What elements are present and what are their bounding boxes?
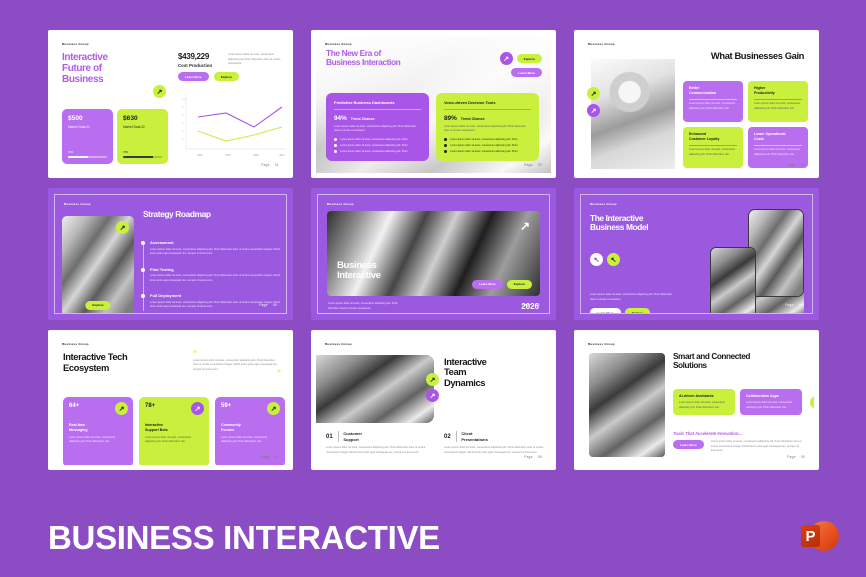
card-description: Lorem ipsum dolor sit amet, consectetur … [754,102,802,111]
item-description: Lorem ipsum dolor sit amet, consectetur … [326,446,430,455]
page-title: The New Era of Business Interaction [326,49,400,68]
list-item: Lorem ipsum dolor sit amet, consectetur … [444,138,531,142]
meeting-photo: ↗ Explore [62,216,134,314]
card-heading: Higher Productivity [754,86,802,95]
quote-mark-icon: ” [277,371,281,377]
list-item: Lorem ipsum dolor sit amet, consectetur … [334,150,421,154]
explore-button[interactable]: Explore [85,301,110,310]
phone-mockup-small [710,247,756,314]
slide-5[interactable]: Business Group ↗ Business Interactive Le… [311,188,556,320]
feature-card-voice-tools[interactable]: Voice-driven Decision Tools 89% Trend Ch… [436,93,539,161]
slide-9[interactable]: Business Group Smart and Connected Solut… [574,330,819,470]
step-description: Lorem ipsum dolor sit amet, consectetur … [150,248,287,257]
benefit-card-higher-productivity[interactable]: Higher Productivity Lorem ipsum dolor si… [748,81,808,122]
benefit-card-better-communication[interactable]: Better Communication Lorem ipsum dolor s… [683,81,743,122]
slide-logo: Business Group [64,202,91,206]
page-indicator: Page07 [261,455,279,459]
list-item: Lorem ipsum dolor sit amet, consectetur … [334,144,421,148]
phone-mockup-large [748,209,804,297]
slide-logo: Business Group [590,202,617,206]
list-item: Lorem ipsum dolor sit amet, consectetur … [444,144,531,148]
explore-button[interactable]: Explore [625,308,650,314]
slide-logo: Business Group [327,202,354,206]
page-title: The Interactive Business Model [590,214,648,233]
quote-block: “ Lorem ipsum dolor sit amet, consectetu… [193,351,281,372]
card-description: Lorem ipsum dolor sit amet, consectetur … [689,148,737,157]
learn-more-button[interactable]: Learn More [673,440,704,449]
amount-label: Cost Production [178,63,212,68]
item-label: Client Presentations [461,431,487,441]
card-heading: Collaboration Apps [746,394,796,398]
slide-logo: Business Group [588,42,615,46]
step-heading: Full Deployment [150,293,287,298]
learn-more-button[interactable]: Learn More [511,68,542,77]
arrow-up-right-icon: ↗ [116,221,129,234]
powerpoint-icon: P [801,519,839,555]
divider [338,431,339,442]
page-indicator: Page01 [261,163,279,167]
bullet-dot [444,150,447,153]
card-description: Lorem ipsum dolor sit amet, consectetur … [679,401,729,410]
card-description: Lorem ipsum dolor sit amet, consectetur … [754,148,802,157]
arrow-up-right-icon: ↗ [267,402,280,415]
numbered-item-customer-support[interactable]: 01 Customer Support Lorem ipsum dolor si… [326,431,430,465]
page-title: Strategy Roadmap [143,210,211,219]
progress-percent: 78% [123,151,162,154]
bullet-dot [334,138,337,141]
slide-logo: Business Group [325,42,352,46]
svg-text:2025: 2025 [225,154,231,157]
slide-6[interactable]: Business Group The Interactive Business … [574,188,819,320]
arrow-up-right-icon: ↗ [500,52,513,65]
card-description: Lorem ipsum dolor sit amet, consectetur … [746,401,796,410]
step-heading: Assessment [150,240,287,245]
solution-card-collaboration-apps[interactable]: Collaboration Apps Lorem ipsum dolor sit… [740,389,802,415]
card-heading: Predictive Business Dashboards [334,100,421,105]
tagline: Tools That Accelerate Innovation... [673,431,742,436]
list-item: Lorem ipsum dolor sit amet, consectetur … [334,138,421,142]
divider [334,109,421,110]
bullet-dot [444,144,447,147]
office-photo [589,353,665,457]
page-title: What Businesses Gain [711,51,804,62]
page-indicator: Page02 [524,163,542,167]
bullet-text: Lorem ipsum dolor sit amet, consectetur … [340,150,408,153]
svg-text:2024: 2024 [197,154,203,157]
footer-description: Lorem ipsum dolor sit amet, consectetur … [590,293,674,302]
svg-text:30: 30 [182,131,185,133]
numbered-item-client-presentations[interactable]: 02 Client Presentations Lorem ipsum dolo… [444,431,548,465]
card-description: Lorem ipsum dolor sit amet, consectetur … [221,436,279,445]
slide-logo: Business Group [588,342,615,346]
page-title: Interactive Team Dynamics [444,357,487,388]
card-heading: Better Communication [689,86,737,95]
item-description: Lorem ipsum dolor sit amet, consectetur … [444,446,548,455]
arrow-up-right-icon: ↗ [426,389,439,402]
workspace-photo [316,355,434,423]
slide-logo: Business Group [62,42,89,46]
slide-4[interactable]: Business Group Strategy Roadmap ↗ Explor… [48,188,293,320]
card-heading: Real-time Messaging [69,423,127,433]
slide-logo: Business Group [62,342,89,346]
stat-card-list: 64+ ↗ Real-time Messaging Lorem ipsum do… [63,397,285,465]
svg-text:50: 50 [182,123,185,125]
line-chart: 1008060 503010 20242025 20262027 [176,87,288,163]
feature-card-predictive-dashboards[interactable]: Predictive Business Dashboards 94% Trend… [326,93,429,161]
footer-description: Lorem ipsum dolor sit amet, consectetur … [711,440,803,454]
footer-description: Lorem ipsum dolor sit amet, consectetur … [328,302,402,311]
percent-label: Trend Chance [351,117,375,121]
bullet-dot [334,150,337,153]
card-description: Lorem ipsum dolor sit amet, consectetur … [69,436,127,445]
bullet-text: Lorem ipsum dolor sit amet, consectetur … [450,144,518,147]
slide-logo: Business Group [325,342,352,346]
page-title: Smart and Connected Solutions [673,352,750,371]
card-heading: Community Forums [221,423,279,433]
quote-text: Lorem ipsum dolor sit amet, consectetur … [193,359,281,373]
progress-bar [68,156,107,158]
item-number: 01 [326,434,333,440]
stat-card-support-bots[interactable]: 78+ ↗ Interactive Support Bots Lorem ips… [139,397,209,465]
card-heading: Voice-driven Decision Tools [444,100,531,105]
page-title: Interactive Tech Ecosystem [63,352,127,373]
footer-title: BUSINESS INTERACTIVE [48,519,440,557]
svg-text:2026: 2026 [253,154,259,157]
solution-card-ai-assistants[interactable]: AI-driven Assistants Lorem ipsum dolor s… [673,389,735,415]
percent-value: 94% [334,115,347,122]
list-item: Lorem ipsum dolor sit amet, consectetur … [444,150,531,154]
quote-mark-icon: “ [193,351,281,357]
arrow-up-right-icon: ↗ [520,219,530,233]
person-photo [591,59,675,169]
divider [444,109,531,110]
page-title: Business Interactive [337,261,381,282]
bullet-text: Lorem ipsum dolor sit amet, consectetur … [450,150,518,153]
arrow-up-right-icon: ↗ [191,402,204,415]
arrow-up-left-icon: ↖ [590,253,603,266]
card-heading: Lower Operational Costs [754,132,802,141]
benefit-card-enhanced-loyalty[interactable]: Enhanced Customer Loyalty Lorem ipsum do… [683,127,743,168]
card-description: Lorem ipsum dolor sit amet, consectetur … [334,125,421,134]
divider [456,431,457,442]
bullet-list: Lorem ipsum dolor sit amet, consectetur … [444,138,531,154]
stat-card-messaging[interactable]: 64+ ↗ Real-time Messaging Lorem ipsum do… [63,397,133,465]
step-description: Lorem ipsum dolor sit amet, consectetur … [150,274,287,283]
svg-text:2027: 2027 [279,154,285,157]
bullet-list: Lorem ipsum dolor sit amet, consectetur … [334,138,421,154]
bullet-text: Lorem ipsum dolor sit amet, consectetur … [340,138,408,141]
svg-text:60: 60 [182,115,185,117]
solution-card-list: AI-driven Assistants Lorem ipsum dolor s… [673,389,814,415]
item-number: 02 [444,434,451,440]
roadmap-steps: Assessment Lorem ipsum dolor sit amet, c… [141,240,287,310]
divider [689,99,737,100]
bullet-text: Lorem ipsum dolor sit amet, consectetur … [450,138,518,141]
slide-7[interactable]: Business Group Interactive Tech Ecosyste… [48,330,293,470]
page-indicator: Page03 [787,163,805,167]
bullet-dot [334,144,337,147]
page-indicator: Page04 [259,303,277,307]
amount-value: $439,229 [178,52,209,61]
page-indicator: Page05 [522,303,540,307]
numbered-item-list: 01 Customer Support Lorem ipsum dolor si… [326,431,548,465]
explore-button[interactable]: Explore [517,54,542,63]
arrow-up-left-icon: ↖ [607,253,620,266]
stat-label: Market Data 01 [68,125,107,130]
divider [754,145,802,146]
card-heading: Interactive Support Bots [145,423,203,433]
page-title: Interactive Future of Business [62,52,108,86]
progress-bar [123,156,162,158]
step-heading: Pilot Testing [150,267,287,272]
learn-more-button[interactable]: Learn More [472,280,503,289]
arrow-up-right-icon: ↗ [587,87,600,100]
stat-card-market-02[interactable]: $630 Market Data 02 78% [117,109,168,164]
page-indicator: Page08 [524,455,542,459]
slide-1[interactable]: Business Group Interactive Future of Bus… [48,30,293,178]
card-description: Lorem ipsum dolor sit amet, consectetur … [689,102,737,111]
percent-value: 89% [444,115,457,122]
item-label: Customer Support [343,431,362,441]
progress-percent: 50% [68,151,107,154]
divider [754,99,802,100]
svg-text:10: 10 [182,139,185,141]
divider [689,145,737,146]
explore-button[interactable]: Explore [507,280,532,289]
card-heading: AI-driven Assistants [679,394,729,398]
benefit-card-grid: Better Communication Lorem ipsum dolor s… [683,81,808,168]
page-indicator: Page06 [785,303,803,307]
explore-button[interactable]: Explore [214,72,239,81]
roadmap-step-pilot-testing[interactable]: Pilot Testing Lorem ipsum dolor sit amet… [141,267,287,284]
slide-8[interactable]: Business Group ↗ ↗ Interactive Team Dyna… [311,330,556,470]
stat-value: $630 [123,115,162,122]
arrow-up-right-icon: ↗ [426,373,439,386]
card-description: Lorem ipsum dolor sit amet, consectetur … [444,125,531,134]
roadmap-step-full-deployment[interactable]: Full Deployment Lorem ipsum dolor sit am… [141,293,287,310]
slide-2[interactable]: Business Group The New Era of Business I… [311,30,556,178]
slide-3[interactable]: Business Group What Businesses Gain ↗ ↗ … [574,30,819,178]
stat-label: Market Data 02 [123,125,162,130]
description-text: Lorem ipsum dolor sit amet, consectetur … [228,53,284,67]
arrow-up-right-icon: ↗ [115,402,128,415]
slide-grid: Business Group Interactive Future of Bus… [48,30,819,470]
roadmap-step-assessment[interactable]: Assessment Lorem ipsum dolor sit amet, c… [141,240,287,257]
svg-text:80: 80 [182,107,185,109]
arrow-up-right-icon: ↗ [153,85,166,98]
benefit-card-lower-costs[interactable]: Lower Operational Costs Lorem ipsum dolo… [748,127,808,168]
powerpoint-letter: P [801,525,820,547]
stat-card-market-01[interactable]: $500 Market Data 01 50% [62,109,113,164]
page-indicator: Page09 [787,455,805,459]
percent-label: Trend Chance [461,117,485,121]
stat-value: $500 [68,115,107,122]
learn-more-button[interactable]: Learn More [178,72,209,81]
hero-photo: ↗ Business Interactive Learn More Explor… [327,211,540,296]
bullet-text: Lorem ipsum dolor sit amet, consectetur … [340,144,408,147]
card-description: Lorem ipsum dolor sit amet, consectetur … [145,436,203,445]
learn-more-button[interactable]: Learn More [590,308,621,314]
arrow-up-right-icon: ↗ [587,104,600,117]
arrow-up-right-icon: ↗ [810,396,814,409]
card-heading: Enhanced Customer Loyalty [689,132,737,141]
bullet-dot [444,138,447,141]
chart-svg: 1008060 503010 20242025 20262027 [176,87,288,163]
